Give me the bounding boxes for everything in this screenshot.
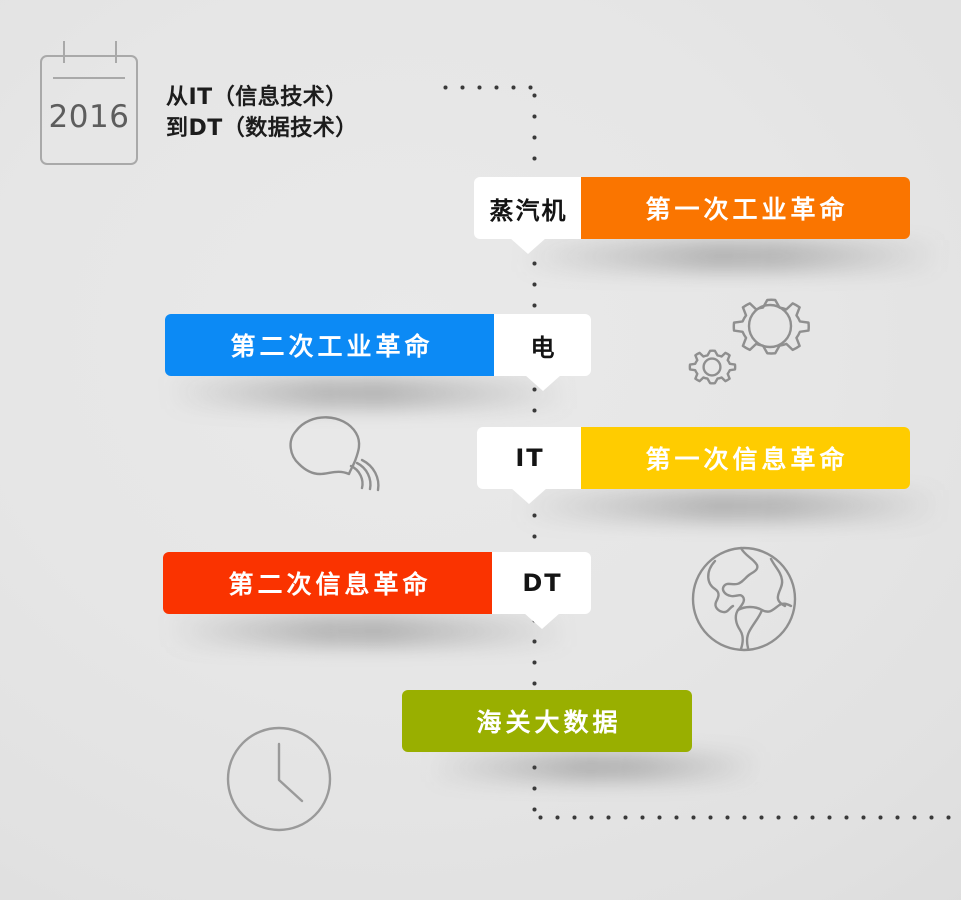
gears-icon (676, 295, 826, 405)
lightbulb-icon (272, 408, 397, 513)
row-shadow-dt (168, 615, 568, 647)
calendar-year-label: 2016 (42, 99, 136, 135)
timeline-bar-label-customs-big-data: 海关大数据 (472, 703, 621, 739)
timeline-tab-it[interactable]: IT (477, 427, 581, 489)
timeline-tab-steam[interactable]: 蒸汽机 (474, 177, 581, 239)
timeline-tab-label-electricity: 电 (529, 328, 557, 363)
timeline-tab-nub-dt (524, 613, 560, 629)
row-shadow-it (520, 490, 940, 522)
page-title-line-1: 从IT（信息技术） (166, 82, 358, 113)
calendar-header-rule (53, 77, 125, 79)
timeline-bar-label-dt: 第二次信息革命 (224, 565, 431, 601)
clock-icon (220, 720, 338, 838)
timeline-tab-label-dt: DT (520, 569, 562, 597)
globe-icon (685, 540, 803, 658)
timeline-bar-label-electricity: 第二次工业革命 (226, 327, 433, 363)
timeline-bar-electricity[interactable]: 第二次工业革命 (165, 314, 495, 376)
calendar-ring-right (115, 41, 117, 63)
page-title-line-2: 到DT（数据技术） (166, 113, 358, 144)
timeline-row-customs-big-data[interactable]: 海关大数据 (402, 690, 692, 752)
timeline-tab-electricity[interactable]: 电 (494, 314, 591, 376)
timeline-tab-nub-steam (510, 238, 546, 254)
calendar-icon: 2016 (40, 55, 138, 165)
timeline-bar-label-it: 第一次信息革命 (641, 440, 848, 476)
timeline-tab-label-it: IT (513, 444, 544, 472)
timeline-bar-dt[interactable]: 第二次信息革命 (163, 552, 493, 614)
row-shadow-steam (520, 240, 940, 272)
timeline-tab-dt[interactable]: DT (492, 552, 591, 614)
timeline-bar-it[interactable]: 第一次信息革命 (580, 427, 910, 489)
timeline-bar-steam[interactable]: 第一次工业革命 (580, 177, 910, 239)
row-shadow-customs-big-data (430, 752, 760, 782)
dotted-path-top-horizontal (437, 85, 537, 90)
timeline-bar-label-steam: 第一次工业革命 (641, 190, 848, 226)
page-title: 从IT（信息技术） 到DT（数据技术） (166, 82, 358, 144)
row-shadow-electricity (168, 377, 568, 409)
timeline-tab-nub-electricity (525, 375, 561, 391)
infographic-canvas: 2016 从IT（信息技术） 到DT（数据技术） (0, 0, 961, 900)
timeline-tab-nub-it (511, 488, 547, 504)
timeline-tab-label-steam: 蒸汽机 (488, 191, 568, 226)
timeline-bar-customs-big-data[interactable]: 海关大数据 (402, 690, 692, 752)
calendar-ring-left (63, 41, 65, 63)
dotted-path-bottom-horizontal (532, 815, 961, 820)
